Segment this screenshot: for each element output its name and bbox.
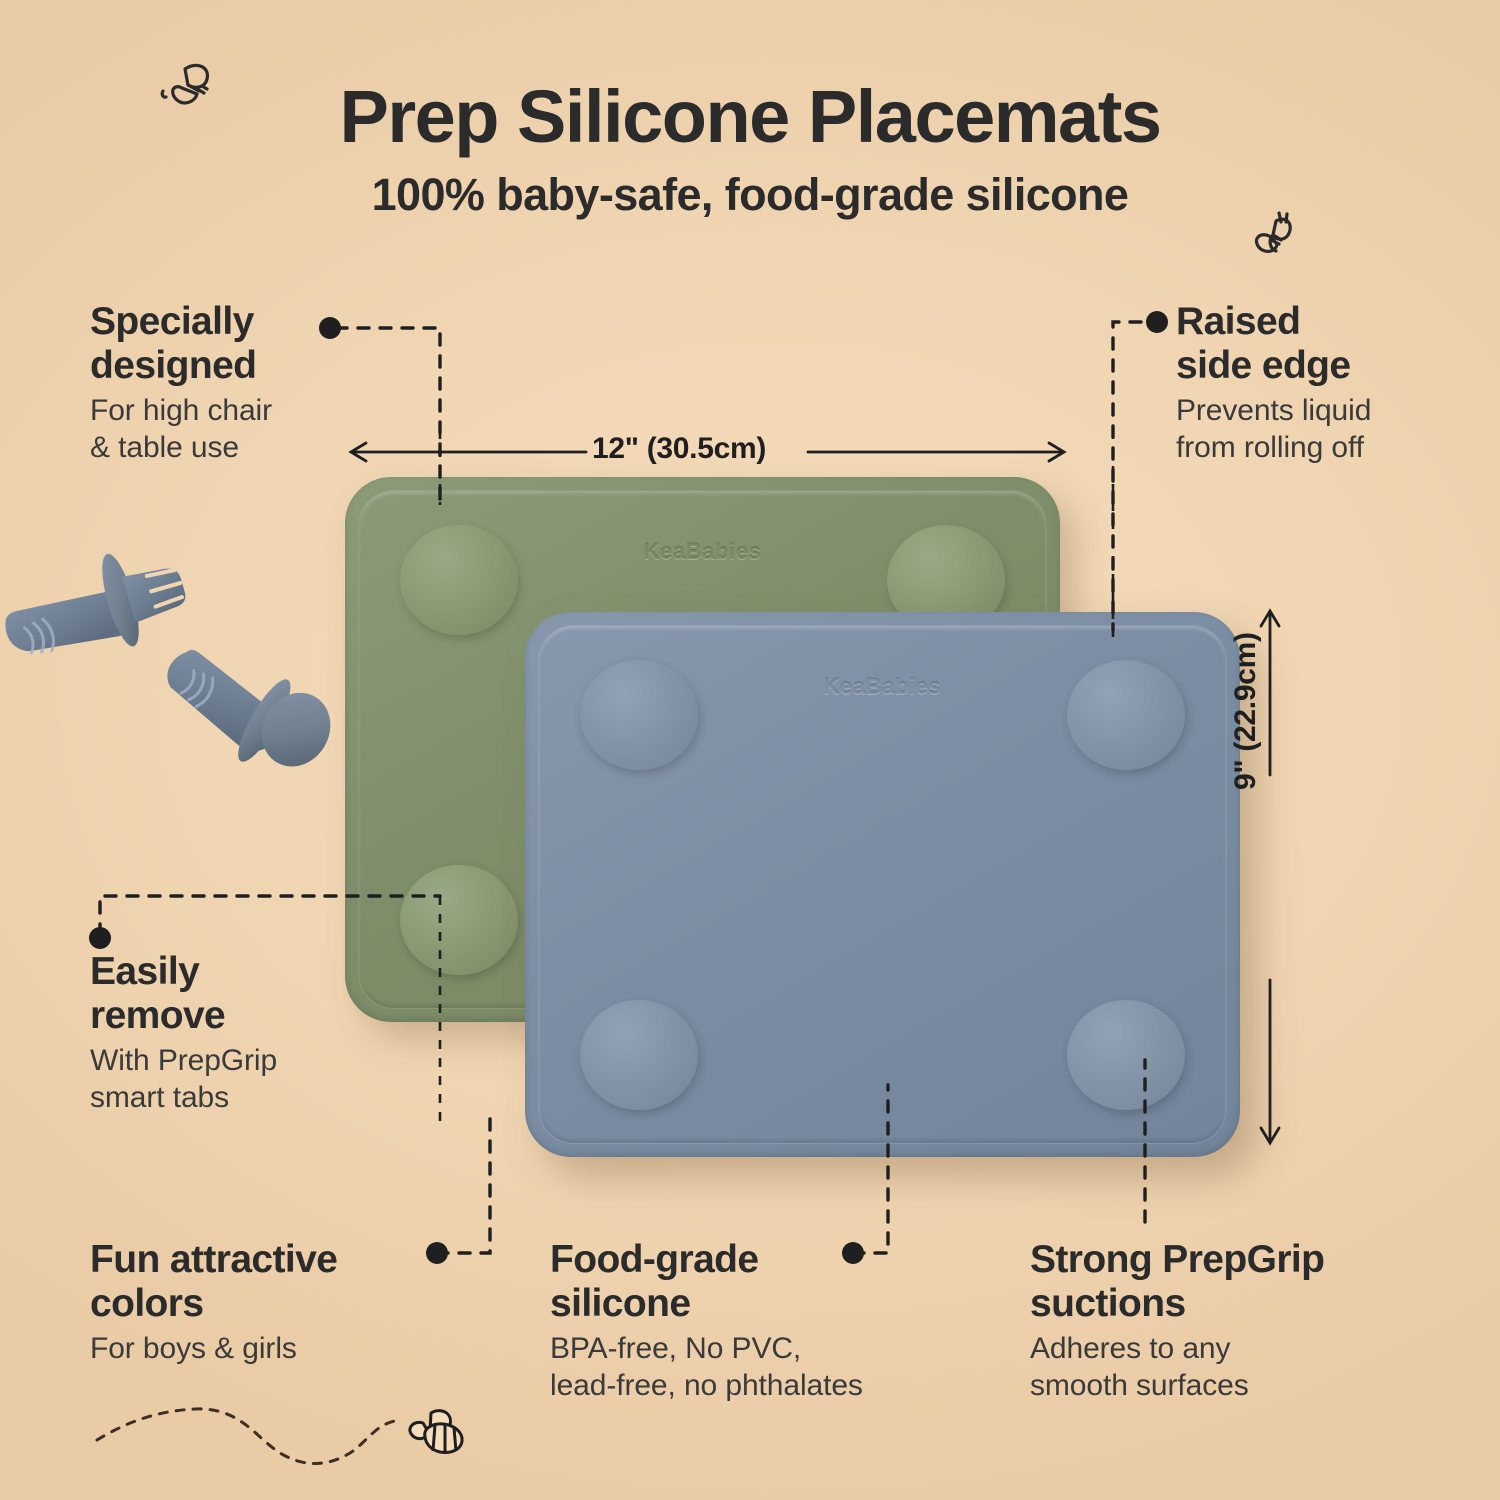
callout-subtext: BPA-free, No PVC, lead-free, no phthalat… (550, 1330, 970, 1404)
callout-heading: Strong PrepGrip suctions (1030, 1238, 1460, 1326)
bee-icon (95, 1395, 515, 1500)
page-title: Prep Silicone Placemats (0, 78, 1500, 156)
suction-pad (580, 1000, 698, 1110)
callout-subtext: With PrepGrip smart tabs (90, 1042, 420, 1116)
brand-logo: KeaBabies (345, 539, 1060, 565)
width-dimension-label: 12" (30.5cm) (592, 432, 766, 466)
callout-subtext: Adheres to any smooth surfaces (1030, 1330, 1460, 1404)
callout-heading: Specially designed (90, 300, 420, 388)
callout-heading: Easily remove (90, 950, 420, 1038)
callout-food-grade-silicone: Food-grade silicone BPA-free, No PVC, le… (550, 1238, 970, 1405)
butterfly-icon (155, 55, 225, 130)
callout-subtext: Prevents liquid from rolling off (1176, 392, 1476, 466)
callout-specially-designed: Specially designed For high chair & tabl… (90, 300, 420, 467)
height-dimension-label: 9" (22.9cm) (1229, 632, 1263, 790)
blue-placemat: KeaBabies (525, 612, 1240, 1157)
fork-icon (0, 536, 195, 679)
suction-pad (1067, 1000, 1185, 1110)
callout-raised-side-edge: Raised side edge Prevents liquid from ro… (1176, 300, 1476, 467)
callout-strong-prepgrip-suctions: Strong PrepGrip suctions Adheres to any … (1030, 1238, 1460, 1405)
header: Prep Silicone Placemats 100% baby-safe, … (0, 78, 1500, 219)
butterfly-icon (1242, 205, 1314, 282)
callout-subtext: For high chair & table use (90, 392, 420, 466)
callout-fun-attractive-colors: Fun attractive colors For boys & girls (90, 1238, 460, 1367)
baby-utensils (0, 530, 335, 820)
callout-heading: Raised side edge (1176, 300, 1476, 388)
callout-heading: Fun attractive colors (90, 1238, 460, 1326)
callout-subtext: For boys & girls (90, 1330, 460, 1367)
brand-logo: KeaBabies (525, 674, 1240, 700)
spoon-icon (146, 625, 335, 793)
infographic-canvas: Prep Silicone Placemats 100% baby-safe, … (0, 0, 1500, 1500)
callout-heading: Food-grade silicone (550, 1238, 970, 1326)
callout-easily-remove: Easily remove With PrepGrip smart tabs (90, 950, 420, 1117)
